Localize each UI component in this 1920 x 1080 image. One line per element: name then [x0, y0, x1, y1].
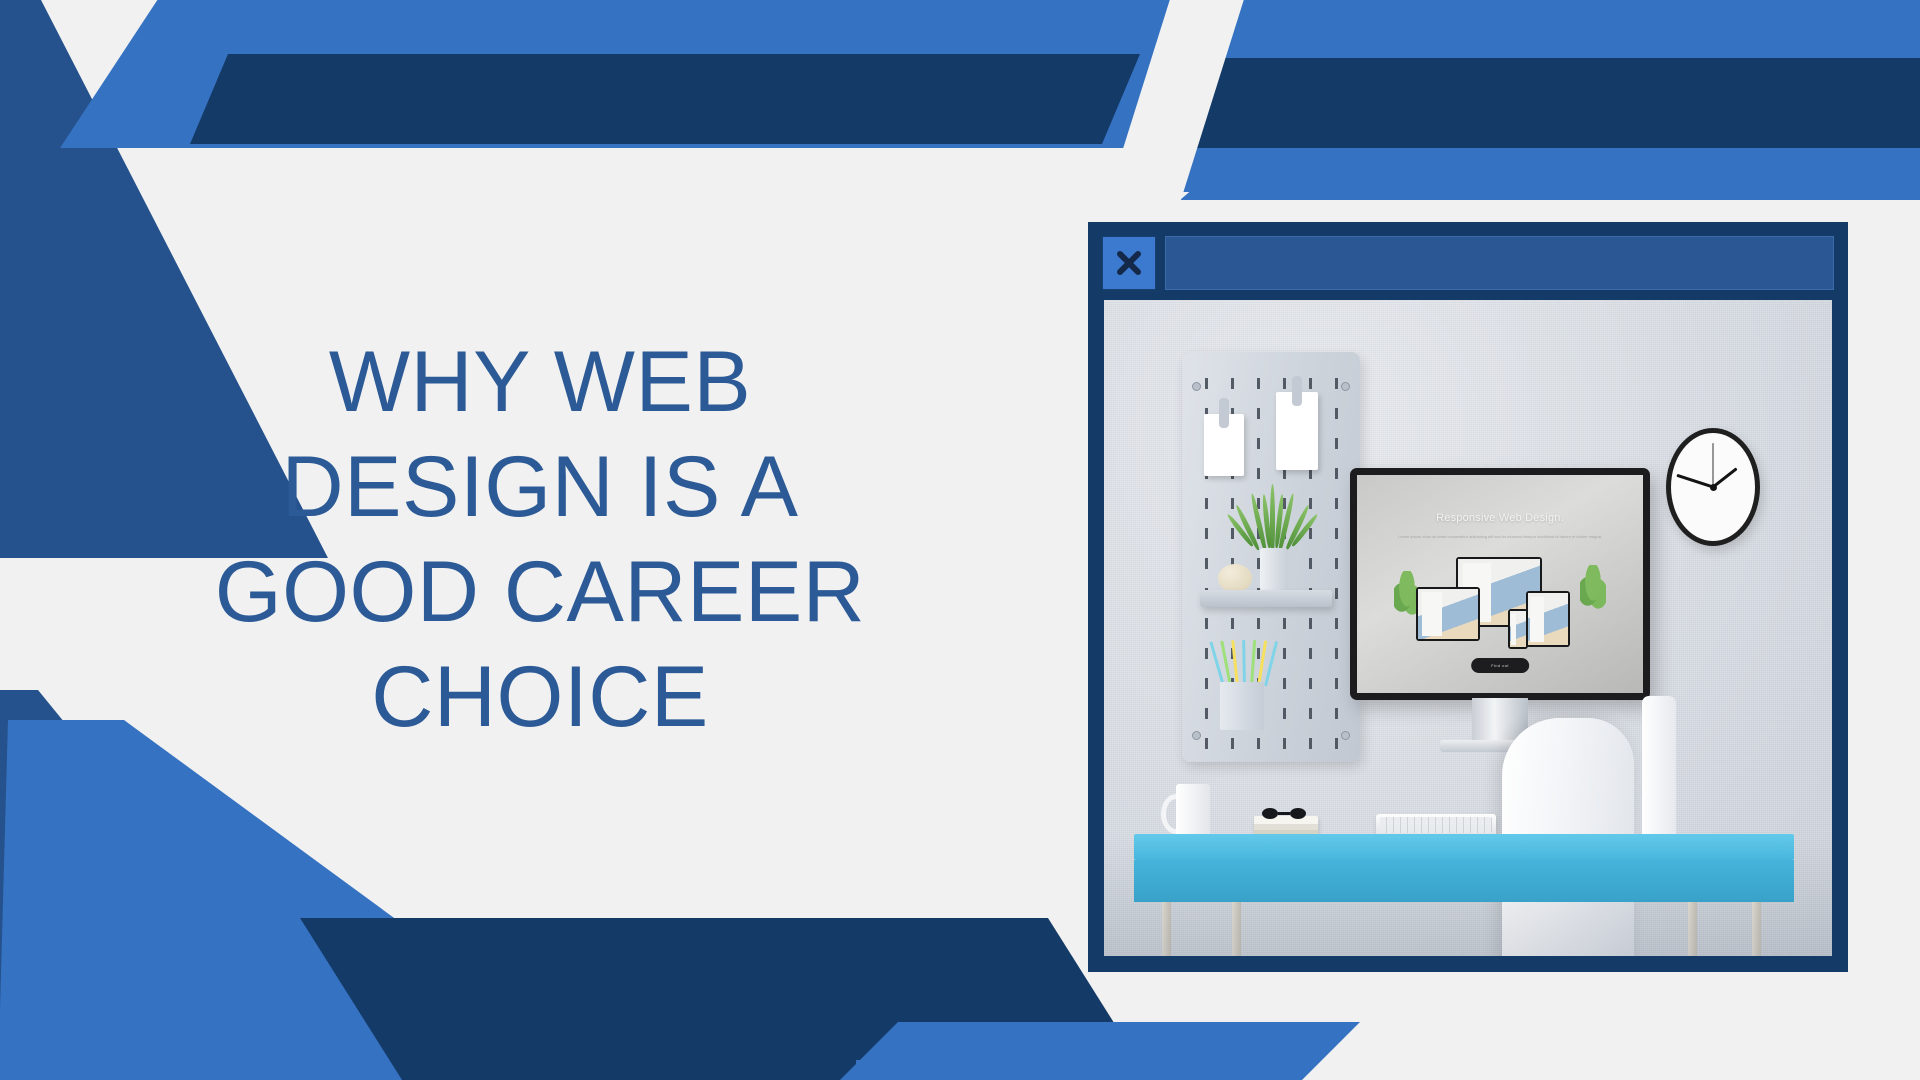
pegboard-pencil-cup	[1220, 682, 1264, 730]
monitor: Responsive Web Design. Lorem ipsum dolor…	[1350, 468, 1650, 700]
floor-shadow	[1104, 836, 1832, 956]
title-line-3: GOOD CAREER	[60, 540, 1020, 645]
pegboard-screw	[1341, 382, 1350, 391]
window-title-field[interactable]	[1165, 236, 1834, 290]
eyeglasses	[1262, 808, 1308, 820]
paper-roll	[1642, 696, 1676, 844]
clock-minute-hand	[1676, 474, 1713, 489]
coffee-mug	[1176, 784, 1210, 838]
pegboard	[1182, 352, 1360, 762]
page-title: WHY WEB DESIGN IS A GOOD CAREER CHOICE	[60, 330, 1020, 750]
decor-navy-band-right	[1162, 58, 1920, 148]
device-tablet	[1526, 591, 1570, 647]
title-line-1: WHY WEB	[60, 330, 1020, 435]
pegboard-screw	[1192, 731, 1201, 740]
title-line-4: CHOICE	[60, 645, 1020, 750]
slide-canvas: WHY WEB DESIGN IS A GOOD CAREER CHOICE	[0, 0, 1920, 1080]
screen-plant-right	[1580, 565, 1606, 613]
decor-bottom-right-blue-strip	[856, 1060, 1256, 1080]
pegboard-screw	[1192, 382, 1201, 391]
decor-navy-band-notch	[1075, 0, 1245, 206]
decor-top-right-blue-band	[1040, 0, 1920, 192]
keyboard	[1376, 814, 1496, 836]
wall-clock	[1666, 428, 1760, 546]
decor-top-right-blue-sliver	[1180, 140, 1920, 200]
pegboard-pencils	[1218, 640, 1276, 686]
pegboard-paper-card	[1204, 414, 1244, 476]
pegboard-plant-pot	[1260, 548, 1288, 592]
device-phone	[1508, 609, 1528, 649]
decor-navy-band-left	[190, 54, 1140, 144]
device-mockups	[1400, 553, 1600, 661]
decor-top-blue-band	[60, 0, 1290, 148]
pegboard-shelf	[1200, 590, 1332, 607]
close-icon	[1114, 248, 1144, 278]
screen-cta-button: Find out	[1471, 658, 1529, 673]
decor-bottom-left-wedge	[0, 720, 618, 1080]
clock-second-hand	[1713, 443, 1714, 487]
close-button[interactable]	[1102, 236, 1156, 290]
screen-headline: Responsive Web Design.	[1357, 512, 1643, 524]
clock-center-pin	[1710, 484, 1717, 491]
window-titlebar[interactable]	[1102, 236, 1834, 290]
pegboard-paper-card	[1276, 392, 1318, 470]
decor-bottom-navy-band	[300, 918, 1150, 1080]
pegboard-decorative-stone	[1218, 564, 1252, 592]
pegboard-plant-leaves	[1244, 480, 1304, 554]
pegboard-screw	[1341, 731, 1350, 740]
decor-bottom-right-blue-band	[840, 1022, 1360, 1080]
title-line-2: DESIGN IS A	[60, 435, 1020, 540]
screen-subtext: Lorem ipsum dolor sit amet consectetur a…	[1357, 534, 1643, 541]
monitor-screen: Responsive Web Design. Lorem ipsum dolor…	[1357, 475, 1643, 693]
device-laptop	[1416, 587, 1480, 641]
desk-photo: Responsive Web Design. Lorem ipsum dolor…	[1104, 300, 1832, 956]
image-window-frame: Responsive Web Design. Lorem ipsum dolor…	[1088, 222, 1848, 972]
